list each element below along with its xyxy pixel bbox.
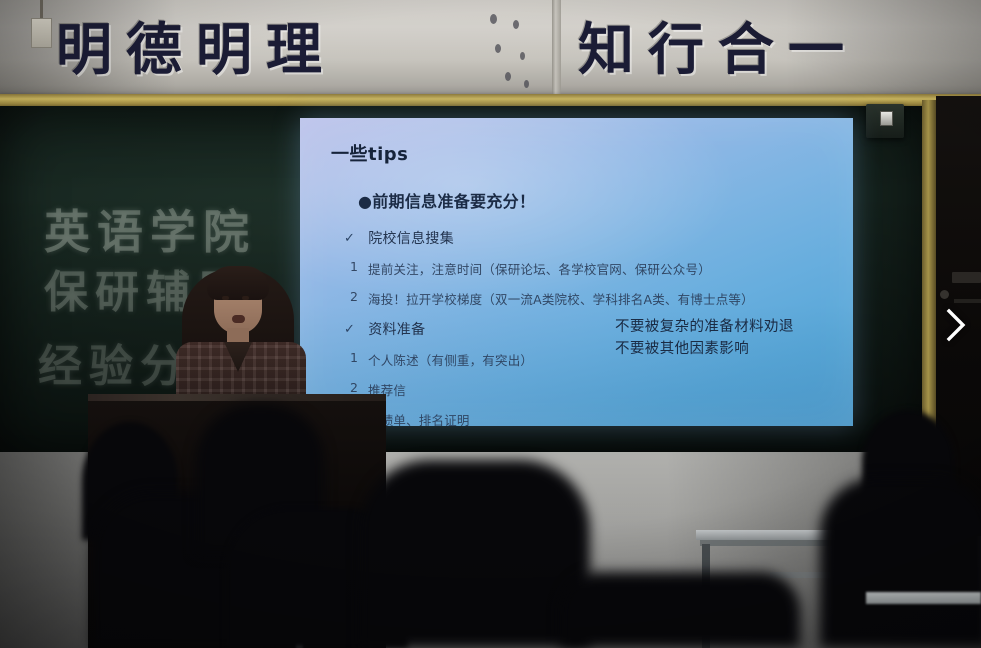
audience-torso-right (820, 478, 981, 648)
slide-content: 一些tips ●前期信息准备要充分！ ✓ 院校信息搜集 1 提前关注，注意时间（… (300, 118, 853, 426)
list-text: 海投！拉开学校梯度（双一流A类院校、学科排名A类、有博士点等） (368, 289, 754, 308)
audience-torso (560, 572, 800, 648)
speaker-led-icon (880, 111, 893, 126)
wall-smudge (513, 20, 519, 29)
presenter-mouth (232, 315, 245, 323)
cabinet-knob (940, 290, 949, 299)
list-index: 2 (350, 289, 360, 308)
slide-section-heading-label: 资料准备 (368, 319, 425, 339)
wall-smudge (495, 44, 501, 53)
check-icon: ✓ (344, 231, 355, 246)
slide-side-note: 不要被复杂的准备材料劝退 不要被其他因素影响 (615, 316, 794, 360)
audience-torso (360, 460, 590, 648)
wall-fixture (31, 18, 52, 48)
list-text: 提前关注，注意时间（保研论坛、各学校官网、保研公众号） (368, 259, 711, 278)
list-index: 1 (350, 350, 360, 369)
slide-list-item: 2 海投！拉开学校梯度（双一流A类院校、学科排名A类、有博士点等） (350, 289, 853, 308)
check-icon: ✓ (344, 322, 355, 337)
wall-pipe (552, 0, 561, 97)
slide-list-item: 2 推荐信 (350, 380, 853, 399)
wall-smudge (490, 14, 497, 24)
slide-title: 一些tips (331, 140, 853, 166)
ceiling-cord (40, 0, 43, 20)
wall-smudge (520, 52, 525, 60)
presenter-eye-left (222, 296, 229, 300)
list-text: 个人陈述（有侧重，有突出） (368, 350, 533, 369)
wall-motto-left: 明德明理 (56, 21, 336, 79)
upper-wall: 明德明理 知行合一 (0, 0, 981, 97)
slide-lead-bullet: ●前期信息准备要充分！ (358, 188, 853, 212)
chevron-right-icon[interactable] (936, 303, 976, 347)
side-note-line-1: 不要被复杂的准备材料劝退 (615, 316, 794, 338)
wall-speaker-box (866, 104, 904, 138)
audience-silhouettes (0, 400, 981, 648)
wall-smudge (524, 80, 529, 88)
slide-list-item: 1 提前关注，注意时间（保研论坛、各学校官网、保研公众号） (350, 259, 853, 278)
presenter-eye-right (242, 296, 249, 300)
wall-motto-right: 知行合一 (578, 21, 858, 79)
projection-screen: 一些tips ●前期信息准备要充分！ ✓ 院校信息搜集 1 提前关注，注意时间（… (300, 118, 853, 426)
list-index: 1 (350, 259, 360, 278)
presenter-hair-front (207, 266, 269, 300)
cabinet-panel (952, 272, 981, 283)
slide-section-heading: ✓ 院校信息搜集 (344, 228, 853, 248)
student-desk-far-right (866, 592, 981, 604)
presenter-speaker (170, 258, 320, 408)
slide-section-heading-label: 院校信息搜集 (368, 228, 454, 248)
wall-smudge (505, 72, 511, 81)
chalk-text-line-1: 英语学院 (44, 196, 256, 262)
side-note-line-2: 不要被其他因素影响 (615, 338, 794, 360)
classroom-photo: 明德明理 知行合一 英语学院 保研辅导 经验分享 一些tips ●前期信息准备要… (0, 0, 981, 648)
